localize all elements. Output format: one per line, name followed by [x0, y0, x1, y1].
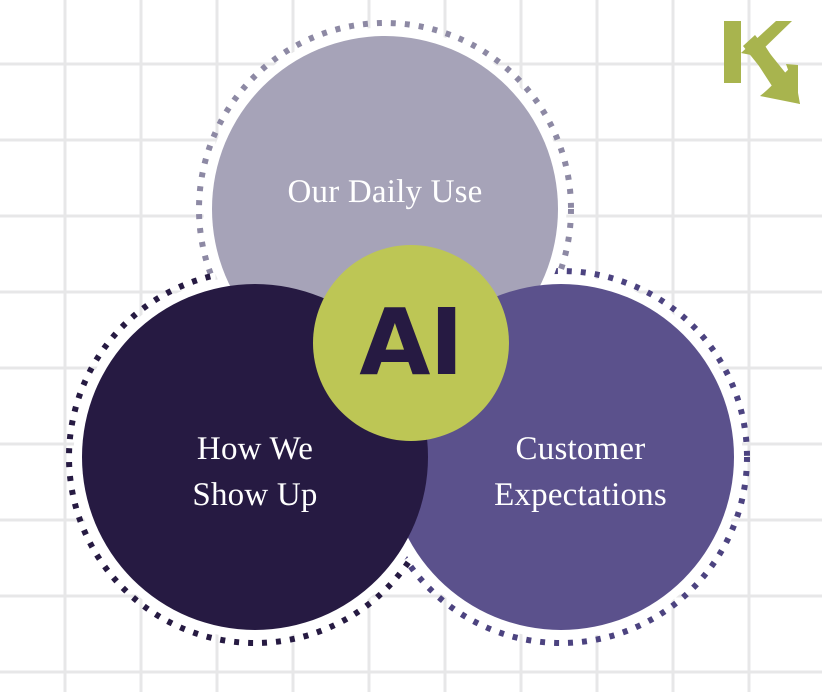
venn-diagram: [0, 0, 822, 692]
circle-ai-core[interactable]: [313, 245, 509, 441]
slide-canvas: Our Daily Use How We Show Up Customer Ex…: [0, 0, 822, 692]
k-stem: [724, 21, 741, 83]
k-arrow-logo[interactable]: [714, 8, 810, 110]
